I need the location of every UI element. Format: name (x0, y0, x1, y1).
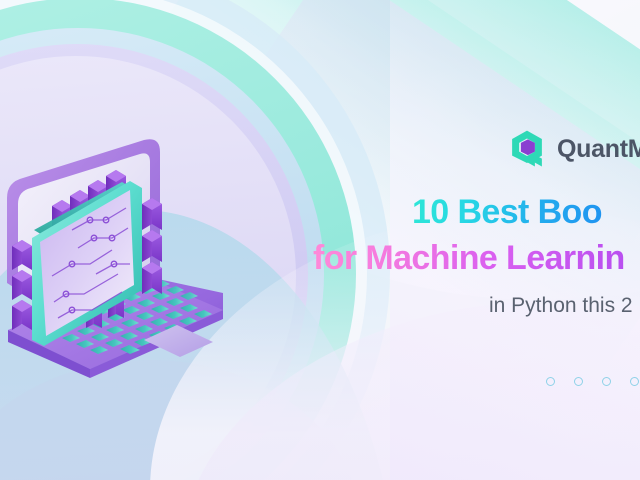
brand-logo-text: QuantMa (557, 135, 640, 164)
promo-banner: QuantMa 10 Best Boo for Machine Learnin … (0, 0, 640, 480)
carousel-dots[interactable] (546, 377, 639, 386)
carousel-dot-1[interactable] (546, 377, 555, 386)
headline-block: 10 Best Boo for Machine Learnin in Pytho… (0, 193, 640, 338)
headline-line-2: for Machine Learnin (313, 239, 625, 278)
quantmatrix-q-logo-icon (506, 128, 548, 170)
carousel-dot-3[interactable] (602, 377, 611, 386)
headline-line-3: in Python this 2 (489, 294, 633, 318)
headline-line-1: 10 Best Boo (412, 193, 602, 232)
carousel-dot-2[interactable] (574, 377, 583, 386)
brand-logo[interactable]: QuantMa (506, 128, 640, 170)
carousel-dot-4[interactable] (630, 377, 639, 386)
